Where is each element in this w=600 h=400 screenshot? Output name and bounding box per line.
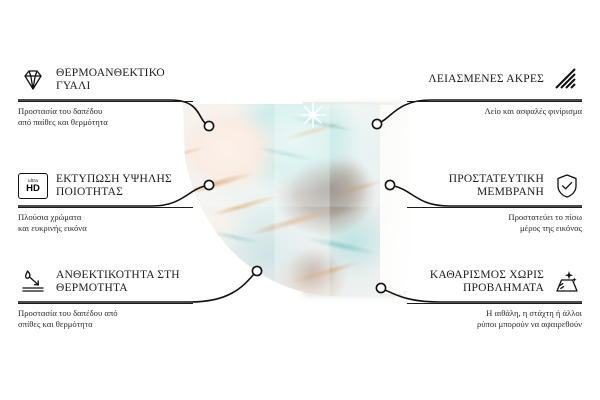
feature-header: ΠΡΟΣΤΑΤΕΥΤΙΚΗ ΜΕΜΒΡΑΝΗ: [407, 170, 582, 202]
feature-divider: [407, 101, 582, 102]
feature-divider: [18, 303, 193, 304]
feature-heat-durability: ΑΝΘΕΚΤΙΚΟΤΗΤΑ ΣΤΗ ΘΕΡΜΟΤΗΤΑ Προστασία το…: [18, 266, 193, 330]
feature-title: ΕΚΤΥΠΩΣΗ ΥΨΗΛΗΣ ΠΟΙΟΤΗΤΑΣ: [56, 173, 193, 200]
feature-easy-cleaning: ΚΑΘΑΡΙΣΜΟΣ ΧΩΡΙΣ ΠΡΟΒΛΗΜΑΤΑ Η αιθάλη, η …: [407, 266, 582, 330]
feature-protective-membrane: ΠΡΟΣΤΑΤΕΥΤΙΚΗ ΜΕΜΒΡΑΝΗ Προστατεύει το πί…: [407, 170, 582, 234]
feature-title: ΚΑΘΑΡΙΣΜΟΣ ΧΩΡΙΣ ΠΡΟΒΛΗΜΑΤΑ: [407, 269, 544, 296]
feature-description: Η αιθάλη, η στάχτη ή άλλοι ρύποι μπορούν…: [407, 308, 582, 330]
product-image: [183, 104, 403, 309]
diagonal-stripes-icon: [552, 65, 582, 95]
flame-deflect-icon: [18, 267, 48, 297]
feature-title: ΛΕΙΑΣΜΕΝΕΣ ΑΚΡΕΣ: [428, 73, 544, 87]
feature-title: ΑΝΘΕΚΤΙΚΟΤΗΤΑ ΣΤΗ ΘΕΡΜΟΤΗΤΑ: [56, 269, 193, 296]
feature-header: ΘΕΡΜΟΑΝΘΕΚΤΙΚΟ ΓΥΑΛΙ: [18, 64, 193, 96]
glass-panel-artwork: [183, 104, 380, 296]
sparkle-clean-icon: [552, 267, 582, 297]
feature-divider: [407, 207, 582, 208]
feature-description: Προστασία του δαπέδου από παίθες και θερ…: [18, 106, 193, 128]
shield-check-icon: [552, 171, 582, 201]
feature-header: ΛΕΙΑΣΜΕΝΕΣ ΑΚΡΕΣ: [407, 64, 582, 96]
feature-description: Προστατεύει το πίσω μέρος της εικόνας: [407, 212, 582, 234]
feature-title: ΠΡΟΣΤΑΤΕΥΤΙΚΗ ΜΕΜΒΡΑΝΗ: [407, 173, 544, 200]
feature-header: ΑΝΘΕΚΤΙΚΟΤΗΤΑ ΣΤΗ ΘΕΡΜΟΤΗΤΑ: [18, 266, 193, 298]
feature-description: Λείο και ασφαλές φινίρισμα: [407, 106, 582, 117]
glass-reflection-bands: [183, 104, 380, 296]
feature-divider: [18, 207, 193, 208]
feature-description: Πλούσια χρώματα και ευκρινής εικόνα: [18, 212, 193, 234]
feature-header: ultraHD ΕΚΤΥΠΩΣΗ ΥΨΗΛΗΣ ΠΟΙΟΤΗΤΑΣ: [18, 170, 193, 202]
ultra-hd-icon: ultraHD: [18, 171, 48, 201]
infographic-canvas: ΘΕΡΜΟΑΝΘΕΚΤΙΚΟ ΓΥΑΛΙ Προστασία του δαπέδ…: [0, 0, 600, 400]
feature-divider: [407, 303, 582, 304]
feature-divider: [18, 101, 193, 102]
feature-header: ΚΑΘΑΡΙΣΜΟΣ ΧΩΡΙΣ ΠΡΟΒΛΗΜΑΤΑ: [407, 266, 582, 298]
diamond-icon: [18, 65, 48, 95]
feature-description: Προστασία του δαπέδου από σπίθες και θερ…: [18, 308, 193, 330]
feature-title: ΘΕΡΜΟΑΝΘΕΚΤΙΚΟ ΓΥΑΛΙ: [56, 67, 193, 94]
feature-high-quality-print: ultraHD ΕΚΤΥΠΩΣΗ ΥΨΗΛΗΣ ΠΟΙΟΤΗΤΑΣ Πλούσι…: [18, 170, 193, 234]
feature-heat-resistant-glass: ΘΕΡΜΟΑΝΘΕΚΤΙΚΟ ΓΥΑΛΙ Προστασία του δαπέδ…: [18, 64, 193, 128]
feature-polished-edges: ΛΕΙΑΣΜΕΝΕΣ ΑΚΡΕΣ Λείο και ασφαλές φινίρι…: [407, 64, 582, 117]
